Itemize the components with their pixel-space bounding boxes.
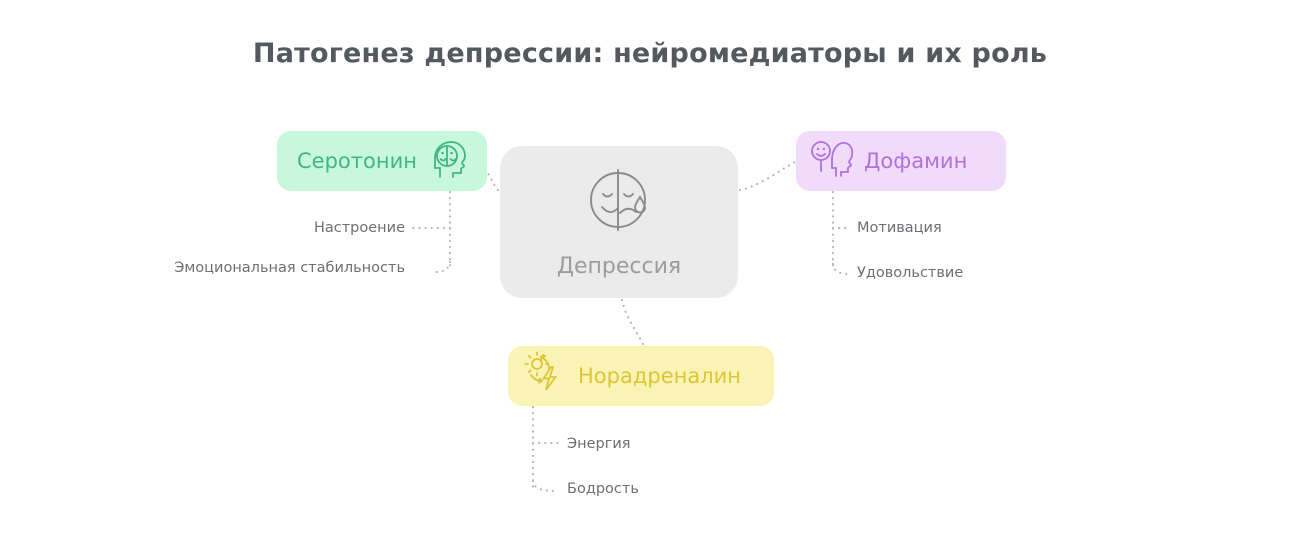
diagram-canvas: Патогенез депрессии: нейромедиаторы и их… [0, 0, 1300, 546]
sub-label-dopamine-0: Мотивация [857, 220, 942, 236]
connector-center-noradrenaline [622, 300, 644, 346]
connector-serotonin-child-1 [436, 262, 450, 272]
connector-dopamine-child-1 [833, 264, 850, 274]
node-serotonin[interactable]: Серотонин [277, 131, 487, 191]
sub-label-serotonin-1: Эмоциональная стабильность [174, 260, 405, 276]
connector-noradrenaline-child-1 [533, 481, 558, 491]
page-title: Патогенез депрессии: нейромедиаторы и их… [0, 38, 1300, 69]
node-dopamine[interactable]: Дофамин [796, 131, 1006, 191]
sub-label-noradrenaline-1: Бодрость [567, 481, 639, 497]
node-noradrenaline[interactable]: Норадреналин [508, 346, 774, 406]
sub-label-dopamine-1: Удовольствие [857, 265, 963, 281]
head-smiley-face-icon [808, 138, 854, 184]
connector-center-dopamine [740, 162, 795, 190]
split-happy-sad-face-icon [584, 166, 654, 240]
node-depression-label: Депрессия [557, 254, 681, 279]
node-depression[interactable]: Депрессия [500, 146, 738, 298]
head-brain-balance-icon [429, 138, 471, 184]
sub-label-serotonin-0: Настроение [314, 220, 405, 236]
sun-lightning-energy-icon [522, 351, 568, 401]
node-noradrenaline-label: Норадреналин [578, 364, 741, 388]
node-dopamine-label: Дофамин [864, 149, 967, 173]
sub-label-noradrenaline-0: Энергия [567, 436, 631, 452]
node-serotonin-label: Серотонин [297, 149, 417, 173]
